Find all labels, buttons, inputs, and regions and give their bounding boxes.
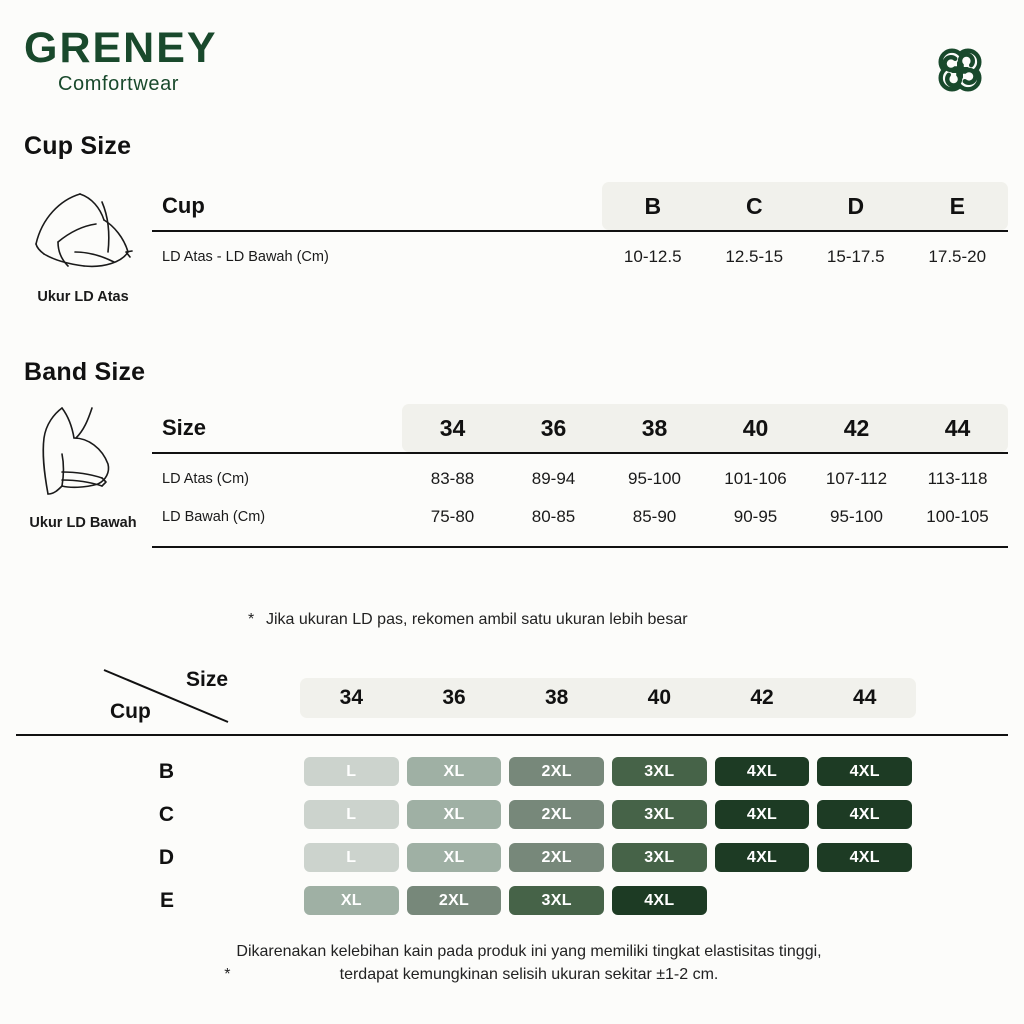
page-header: GRENEY Comfortwear: [24, 26, 1000, 116]
matrix-cell-wrap: 3XL: [505, 886, 608, 915]
matrix-pill-b-44: 4XL: [817, 757, 912, 786]
matrix-column-36: 36: [403, 686, 506, 710]
band-atas-36: 89-94: [503, 469, 604, 489]
matrix-cell-wrap: 4XL: [813, 757, 916, 786]
note-size-recommendation: *Jika ukuran LD pas, rekomen ambil satu …: [248, 608, 948, 631]
matrix-pill-e-40: 4XL: [612, 886, 707, 915]
matrix-pill-b-40: 3XL: [612, 757, 707, 786]
size-chart-page: GRENEY Comfortwear Cup Size: [0, 0, 1024, 1024]
matrix-cell-wrap: 4XL: [711, 757, 814, 786]
matrix-pill-c-36: XL: [407, 800, 502, 829]
matrix-cell-wrap: XL: [403, 800, 506, 829]
matrix-cell-wrap: L: [300, 843, 403, 872]
matrix-pill-d-38: 2XL: [509, 843, 604, 872]
matrix-corner-size-label: Size: [186, 668, 228, 692]
matrix-pill-d-36: XL: [407, 843, 502, 872]
matrix-row-label-b: B: [16, 760, 300, 784]
band-column-40: 40: [705, 415, 806, 442]
band-bawah-38: 85-90: [604, 507, 705, 527]
matrix-cell-wrap: 3XL: [608, 800, 711, 829]
matrix-cell-wrap: 2XL: [505, 800, 608, 829]
cup-column-b: B: [602, 193, 704, 220]
matrix-pill-b-34: L: [304, 757, 399, 786]
underbust-measure-illustration: Ukur LD Bawah: [8, 398, 158, 531]
underbust-measure-caption: Ukur LD Bawah: [8, 515, 158, 531]
matrix-cell-wrap: 2XL: [505, 757, 608, 786]
band-atas-42: 107-112: [806, 469, 907, 489]
band-table-rule-bottom: [152, 546, 1008, 548]
band-header-label: Size: [152, 415, 402, 441]
brand-tagline: Comfortwear: [58, 73, 218, 96]
band-atas-44: 113-118: [907, 469, 1008, 489]
matrix-row-d: DLXL2XL3XL4XL4XL: [16, 836, 1008, 879]
cup-value-b: 10-12.5: [602, 247, 704, 267]
matrix-pill-d-42: 4XL: [715, 843, 810, 872]
matrix-cell-wrap: XL: [403, 843, 506, 872]
matrix-cells: LXL2XL3XL4XL4XL: [300, 843, 1008, 872]
matrix-pill-e-38: 3XL: [509, 886, 604, 915]
table-row: LD Bawah (Cm) 75-80 80-85 85-90 90-95 95…: [152, 498, 1008, 536]
note-elasticity-disclaimer: *Dikarenakan kelebihan kain pada produk …: [130, 940, 910, 986]
matrix-cell-wrap: 3XL: [608, 843, 711, 872]
matrix-column-34: 34: [300, 686, 403, 710]
table-row: LD Atas (Cm) 83-88 89-94 95-100 101-106 …: [152, 460, 1008, 498]
brand-name: GRENEY: [24, 26, 218, 71]
band-column-44: 44: [907, 415, 1008, 442]
band-column-36: 36: [503, 415, 604, 442]
matrix-cell-wrap: XL: [403, 757, 506, 786]
note-star-icon-2: *: [218, 963, 236, 986]
matrix-pill-c-38: 2XL: [509, 800, 604, 829]
band-bawah-36: 80-85: [503, 507, 604, 527]
cup-column-e: E: [907, 193, 1009, 220]
band-atas-38: 95-100: [604, 469, 705, 489]
matrix-pill-b-36: XL: [407, 757, 502, 786]
matrix-row-label-e: E: [16, 889, 300, 913]
quatrefoil-clover-logo-icon: [920, 30, 1000, 110]
matrix-row-c: CLXL2XL3XL4XL4XL: [16, 793, 1008, 836]
band-bawah-42: 95-100: [806, 507, 907, 527]
matrix-body: BLXL2XL3XL4XL4XLCLXL2XL3XL4XL4XLDLXL2XL3…: [16, 736, 1008, 922]
band-size-table: Size 34 36 38 40 42 44 LD Atas (Cm) 83-8…: [152, 404, 1008, 548]
band-bawah-40: 90-95: [705, 507, 806, 527]
matrix-cell-wrap: 4XL: [711, 843, 814, 872]
cup-size-heading: Cup Size: [24, 132, 131, 161]
matrix-column-38: 38: [505, 686, 608, 710]
band-table-body: LD Atas (Cm) 83-88 89-94 95-100 101-106 …: [152, 454, 1008, 536]
matrix-cell-wrap: 4XL: [608, 886, 711, 915]
matrix-cell-wrap: L: [300, 757, 403, 786]
band-column-34: 34: [402, 415, 503, 442]
matrix-pill-b-38: 2XL: [509, 757, 604, 786]
band-atas-40: 101-106: [705, 469, 806, 489]
matrix-column-44: 44: [813, 686, 916, 710]
band-bawah-34: 75-80: [402, 507, 503, 527]
matrix-cell-wrap: 4XL: [813, 843, 916, 872]
matrix-column-40: 40: [608, 686, 711, 710]
matrix-pill-d-40: 3XL: [612, 843, 707, 872]
band-column-38: 38: [604, 415, 705, 442]
matrix-pill-c-44: 4XL: [817, 800, 912, 829]
matrix-cell-wrap: 4XL: [711, 800, 814, 829]
cup-table-body: LD Atas - LD Bawah (Cm) 10-12.5 12.5-15 …: [152, 232, 1008, 276]
band-row-label-ld-bawah: LD Bawah (Cm): [152, 509, 402, 525]
cup-table-header: Cup B C D E: [152, 182, 1008, 230]
matrix-pill-c-34: L: [304, 800, 399, 829]
note-2-line-2: terdapat kemungkinan selisih ukuran seki…: [340, 966, 719, 983]
band-table-header: Size 34 36 38 40 42 44: [152, 404, 1008, 452]
matrix-corner-cell: Size Cup: [76, 660, 296, 732]
matrix-pill-e-36: 2XL: [407, 886, 502, 915]
matrix-column-42: 42: [711, 686, 814, 710]
table-row: LD Atas - LD Bawah (Cm) 10-12.5 12.5-15 …: [152, 238, 1008, 276]
matrix-pill-b-42: 4XL: [715, 757, 810, 786]
matrix-pill-empty: [715, 886, 810, 915]
matrix-cell-wrap: 4XL: [813, 800, 916, 829]
matrix-cells: LXL2XL3XL4XL4XL: [300, 800, 1008, 829]
note-1-text: Jika ukuran LD pas, rekomen ambil satu u…: [266, 611, 688, 628]
cup-value-c: 12.5-15: [704, 247, 806, 267]
bust-measure-caption: Ukur LD Atas: [8, 289, 158, 305]
matrix-pill-c-42: 4XL: [715, 800, 810, 829]
matrix-row-e: EXL2XL3XL4XL: [16, 879, 1008, 922]
cup-value-d: 15-17.5: [805, 247, 907, 267]
matrix-cell-wrap: 2XL: [505, 843, 608, 872]
matrix-cell-wrap: XL: [300, 886, 403, 915]
matrix-cells: XL2XL3XL4XL: [300, 886, 1008, 915]
matrix-row-b: BLXL2XL3XL4XL4XL: [16, 750, 1008, 793]
matrix-pill-empty: [817, 886, 912, 915]
matrix-pill-c-40: 3XL: [612, 800, 707, 829]
matrix-pill-d-34: L: [304, 843, 399, 872]
matrix-corner-cup-label: Cup: [110, 700, 151, 724]
matrix-cell-wrap: 3XL: [608, 757, 711, 786]
matrix-pill-d-44: 4XL: [817, 843, 912, 872]
matrix-row-label-d: D: [16, 846, 300, 870]
cup-column-c: C: [704, 193, 806, 220]
matrix-column-headers: 34 36 38 40 42 44: [300, 678, 916, 718]
band-size-heading: Band Size: [24, 358, 145, 387]
matrix-cell-wrap: L: [300, 800, 403, 829]
matrix-cell-wrap: 2XL: [403, 886, 506, 915]
cup-header-label: Cup: [152, 193, 602, 219]
matrix-cells: LXL2XL3XL4XL4XL: [300, 757, 1008, 786]
brand-block: GRENEY Comfortwear: [24, 26, 218, 96]
note-2-line-1: Dikarenakan kelebihan kain pada produk i…: [236, 943, 821, 960]
band-bawah-44: 100-105: [907, 507, 1008, 527]
cup-value-e: 17.5-20: [907, 247, 1009, 267]
matrix-cell-wrap: [711, 886, 814, 915]
matrix-cell-wrap: [813, 886, 916, 915]
cup-row-label: LD Atas - LD Bawah (Cm): [152, 249, 602, 265]
matrix-row-label-c: C: [16, 803, 300, 827]
cup-band-size-matrix: Size Cup 34 36 38 40 42 44 BLXL2XL3XL4XL…: [16, 660, 1008, 922]
band-row-label-ld-atas: LD Atas (Cm): [152, 471, 402, 487]
band-column-42: 42: [806, 415, 907, 442]
cup-size-table: Cup B C D E LD Atas - LD Bawah (Cm) 10-1…: [152, 182, 1008, 276]
note-star-icon: *: [248, 608, 266, 631]
bust-measure-illustration: Ukur LD Atas: [8, 182, 158, 305]
band-atas-34: 83-88: [402, 469, 503, 489]
cup-column-d: D: [805, 193, 907, 220]
matrix-header: Size Cup 34 36 38 40 42 44: [16, 660, 1008, 732]
matrix-pill-e-34: XL: [304, 886, 399, 915]
